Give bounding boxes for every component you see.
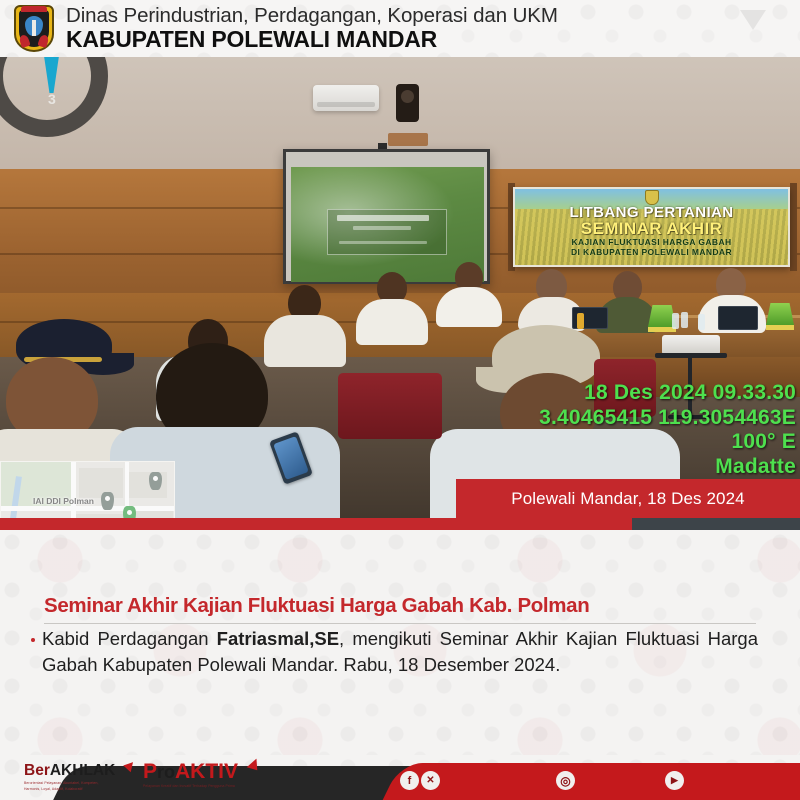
water-bottle-icon: [698, 314, 705, 330]
banner-line-4: DI KABUPATEN POLEWALI MANDAR: [515, 247, 788, 257]
x-twitter-icon[interactable]: ✕: [421, 771, 440, 790]
photo-date-caption: Polewali Mandar, 18 Des 2024: [511, 489, 744, 509]
gps-camera-stamp: 18 Des 2024 09.33.30 3.40465415 119.3054…: [366, 381, 796, 479]
berakhlak-tagline-line1: Berorientasi Pelayanan, Akuntabel, Kompe…: [24, 781, 134, 785]
gps-bearing: 100° E: [366, 430, 796, 455]
projector-device: [662, 335, 720, 355]
proaktiv-logo-text-ro: ro: [157, 762, 175, 782]
social-media-poster: Dinas Perindustrian, Perdagangan, Kopera…: [0, 0, 800, 800]
table-lamp-icon: [766, 303, 794, 325]
banner-seal-icon: [645, 190, 659, 205]
attendee-body: [264, 315, 346, 367]
poster-footer: BerAKHLAK Berorientasi Pelayanan, Akunta…: [0, 755, 800, 800]
header-department-name: Dinas Perindustrian, Perdagangan, Kopera…: [66, 5, 558, 27]
gps-place: Madatte: [366, 455, 796, 480]
water-bottle-icon: [577, 313, 584, 329]
gps-coordinates: 3.40465415 119.3054463E: [366, 406, 796, 431]
berakhlak-logo-text-bold: AKHLAK: [50, 762, 115, 779]
wall-shelf: [388, 133, 428, 146]
proaktiv-tagline: Pelayanan Kreatif dan Inovatif Terhadap …: [143, 784, 263, 788]
kabupaten-polewali-mandar-crest-icon: [12, 4, 56, 54]
air-conditioner-icon: [313, 85, 379, 111]
footer-red-shape: [379, 763, 800, 800]
wall-speaker-icon: [396, 84, 419, 122]
laptop-icon: [718, 306, 758, 330]
event-backdrop-banner: LITBANG PERTANIAN SEMINAR AKHIR KAJIAN F…: [513, 187, 790, 267]
gps-datetime: 18 Des 2024 09.33.30: [366, 381, 796, 406]
wall-circle-mark: 3: [48, 93, 60, 106]
body-text-prefix: Kabid Perdagangan: [42, 628, 217, 649]
bullet-icon: [31, 638, 35, 642]
youtube-icon[interactable]: ▶: [665, 771, 684, 790]
berakhlak-tagline-line2: Harmonis, Loyal, Adaptif, Kolaboratif: [24, 787, 134, 791]
berakhlak-logo: BerAKHLAK Berorientasi Pelayanan, Akunta…: [24, 763, 134, 791]
attendee-body: [436, 287, 502, 327]
proaktiv-logo-text-aktiv: AKTIV: [175, 760, 238, 783]
header-text-block: Dinas Perindustrian, Perdagangan, Kopera…: [66, 5, 558, 52]
banner-line-2: SEMINAR AKHIR: [515, 219, 788, 239]
location-map-inset: IAI DDI Polman Universitas Al-Asyariah M…: [0, 461, 175, 518]
content-section: Seminar Akhir Kajian Fluktuasi Harga Gab…: [0, 530, 800, 755]
photo-date-caption-bar: Polewali Mandar, 18 Des 2024: [456, 479, 800, 518]
proaktiv-logo-text-p: P: [143, 760, 157, 783]
triangle-watermark-icon: [740, 10, 766, 30]
divider-bar-red: [0, 518, 632, 530]
divider-bar-gray: [632, 518, 800, 530]
proaktiv-logo: ProAKTIV Pelayanan Kreatif dan Inovatif …: [143, 761, 263, 788]
water-bottle-icon: [672, 313, 679, 329]
title-divider: [44, 623, 756, 624]
water-bottle-icon: [681, 312, 688, 328]
instagram-icon[interactable]: ◎: [556, 771, 575, 790]
attendee-body: [356, 299, 428, 345]
page-title: Seminar Akhir Kajian Fluktuasi Harga Gab…: [44, 594, 589, 618]
facebook-icon[interactable]: f: [400, 771, 419, 790]
poster-header: Dinas Perindustrian, Perdagangan, Kopera…: [0, 0, 800, 57]
berakhlak-logo-text-normal: Ber: [24, 762, 50, 779]
banner-line-3: KAJIAN FLUKTUASI HARGA GABAH: [515, 237, 788, 247]
body-text: Kabid Perdagangan Fatriasmal,SE, mengiku…: [42, 626, 758, 678]
header-regency-name: KABUPATEN POLEWALI MANDAR: [66, 27, 558, 52]
projection-screen: [283, 149, 490, 284]
body-text-name: Fatriasmal,SE: [217, 628, 339, 649]
